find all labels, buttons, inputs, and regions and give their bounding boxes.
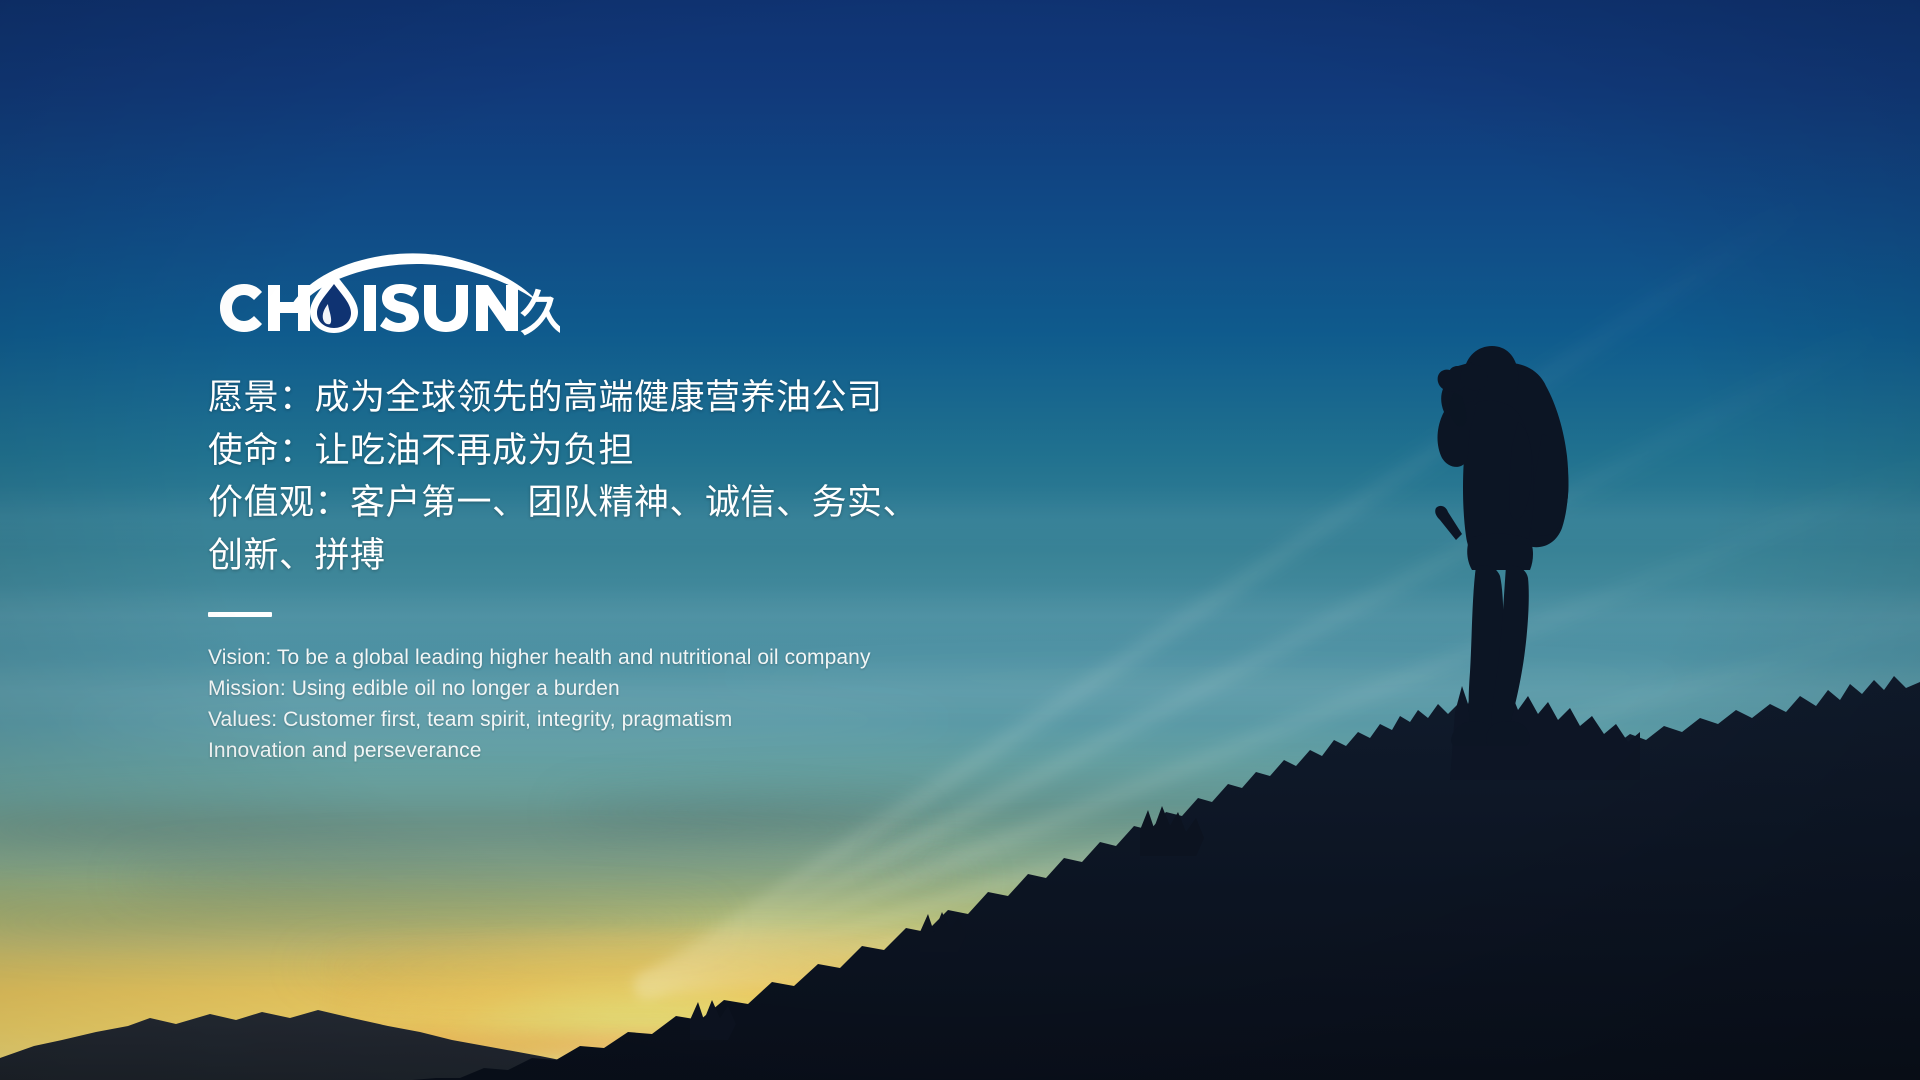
- section-divider: [208, 612, 272, 617]
- mission-line-en: Mission: Using edible oil no longer a bu…: [208, 674, 1168, 705]
- vision-line-en: Vision: To be a global leading higher he…: [208, 643, 1168, 674]
- english-statements: Vision: To be a global leading higher he…: [208, 643, 1168, 766]
- values-line-en: Values: Customer first, team spirit, int…: [208, 705, 1168, 736]
- brand-logo[interactable]: 久晟: [208, 246, 560, 342]
- slide-canvas: 久晟 愿景：成为全球领先的高端健康营养油公司 使命：让吃油不再成为负担 价值观：…: [0, 0, 1920, 1080]
- logo-letter-c: [220, 284, 262, 332]
- logo-letter-u: [424, 285, 468, 332]
- logo-letter-n: [476, 285, 518, 331]
- values-line-en-cont: Innovation and perseverance: [208, 736, 1168, 767]
- logo-letter-s: [380, 284, 419, 332]
- chinese-statements: 愿景：成为全球领先的高端健康营养油公司 使命：让吃油不再成为负担 价值观：客户第…: [208, 372, 1168, 582]
- hiker-silhouette: [1392, 338, 1608, 786]
- logo-letter-h: [268, 285, 310, 331]
- mission-line-cn: 使命：让吃油不再成为负担: [208, 425, 1168, 478]
- values-line-cn: 价值观：客户第一、团队精神、诚信、务实、: [208, 477, 1168, 530]
- logo-chinese-text: 久晟: [520, 288, 560, 341]
- vision-line-cn: 愿景：成为全球领先的高端健康营养油公司: [208, 372, 1168, 425]
- logo-letter-i: [364, 285, 376, 331]
- values-line-cn-cont: 创新、拼搏: [208, 530, 1168, 583]
- content-block: 久晟 愿景：成为全球领先的高端健康营养油公司 使命：让吃油不再成为负担 价值观：…: [208, 246, 1168, 766]
